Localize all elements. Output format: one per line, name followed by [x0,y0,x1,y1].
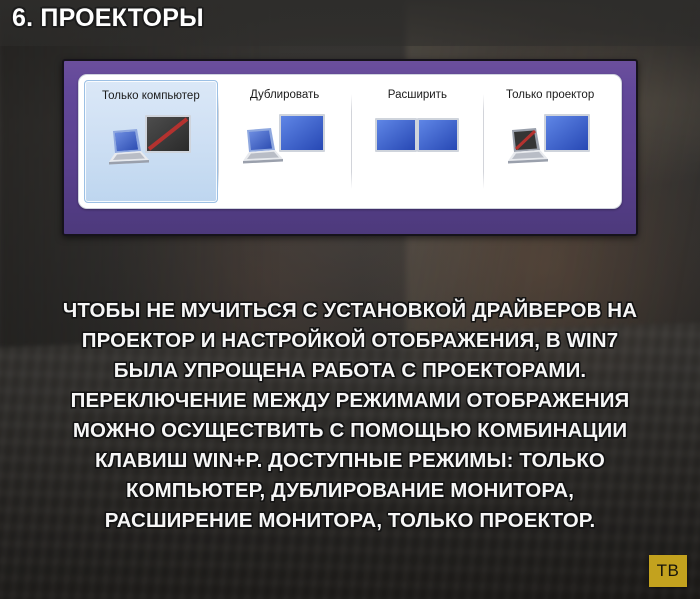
mode-label-extend: Расширить [388,89,447,102]
mode-label-projector-only: Только проектор [506,89,594,102]
projector-dialog-panel: Только компьютер [78,74,622,209]
two-monitors-extended-icon [356,110,480,176]
mode-tile-projector-only[interactable]: Только проектор [484,80,616,203]
caption-line: РАСШИРЕНИЕ МОНИТОРА, ТОЛЬКО ПРОЕКТОР. [14,506,686,536]
disabled-laptop-plus-monitor-icon [488,110,612,176]
laptop-plus-disabled-monitor-icon [89,111,213,177]
mode-label-computer-only: Только компьютер [102,90,200,103]
mode-label-duplicate: Дублировать [250,89,319,102]
mode-tile-extend[interactable]: Расширить [352,80,484,203]
mode-tile-computer-only[interactable]: Только компьютер [84,80,218,203]
caption-line: МОЖНО ОСУЩЕСТВИТЬ С ПОМОЩЬЮ КОМБИНАЦИИ [14,416,686,446]
projector-dialog: Только компьютер [62,59,638,236]
page-title: 6. ПРОЕКТОРЫ [12,4,204,33]
mode-tile-duplicate[interactable]: Дублировать [219,80,351,203]
watermark-badge: TB [649,555,687,587]
caption-line: ПЕРЕКЛЮЧЕНИЕ МЕЖДУ РЕЖИМАМИ ОТОБРАЖЕНИЯ [14,386,686,416]
page-root: 6. ПРОЕКТОРЫ Только компьютер [0,0,700,599]
caption-line: КОМПЬЮТЕР, ДУБЛИРОВАНИЕ МОНИТОРА, [14,476,686,506]
caption-line: ПРОЕКТОР И НАСТРОЙКОЙ ОТОБРАЖЕНИЯ, В WIN… [14,326,686,356]
caption-line: ЧТОБЫ НЕ МУЧИТЬСЯ С УСТАНОВКОЙ ДРАЙВЕРОВ… [14,296,686,326]
caption-block: ЧТОБЫ НЕ МУЧИТЬСЯ С УСТАНОВКОЙ ДРАЙВЕРОВ… [0,296,700,536]
laptop-plus-mirrored-monitor-icon [223,110,347,176]
caption-line: БЫЛА УПРОЩЕНА РАБОТА С ПРОЕКТОРАМИ. [14,356,686,386]
caption-line: КЛАВИШ WIN+P. ДОСТУПНЫЕ РЕЖИМЫ: ТОЛЬКО [14,446,686,476]
